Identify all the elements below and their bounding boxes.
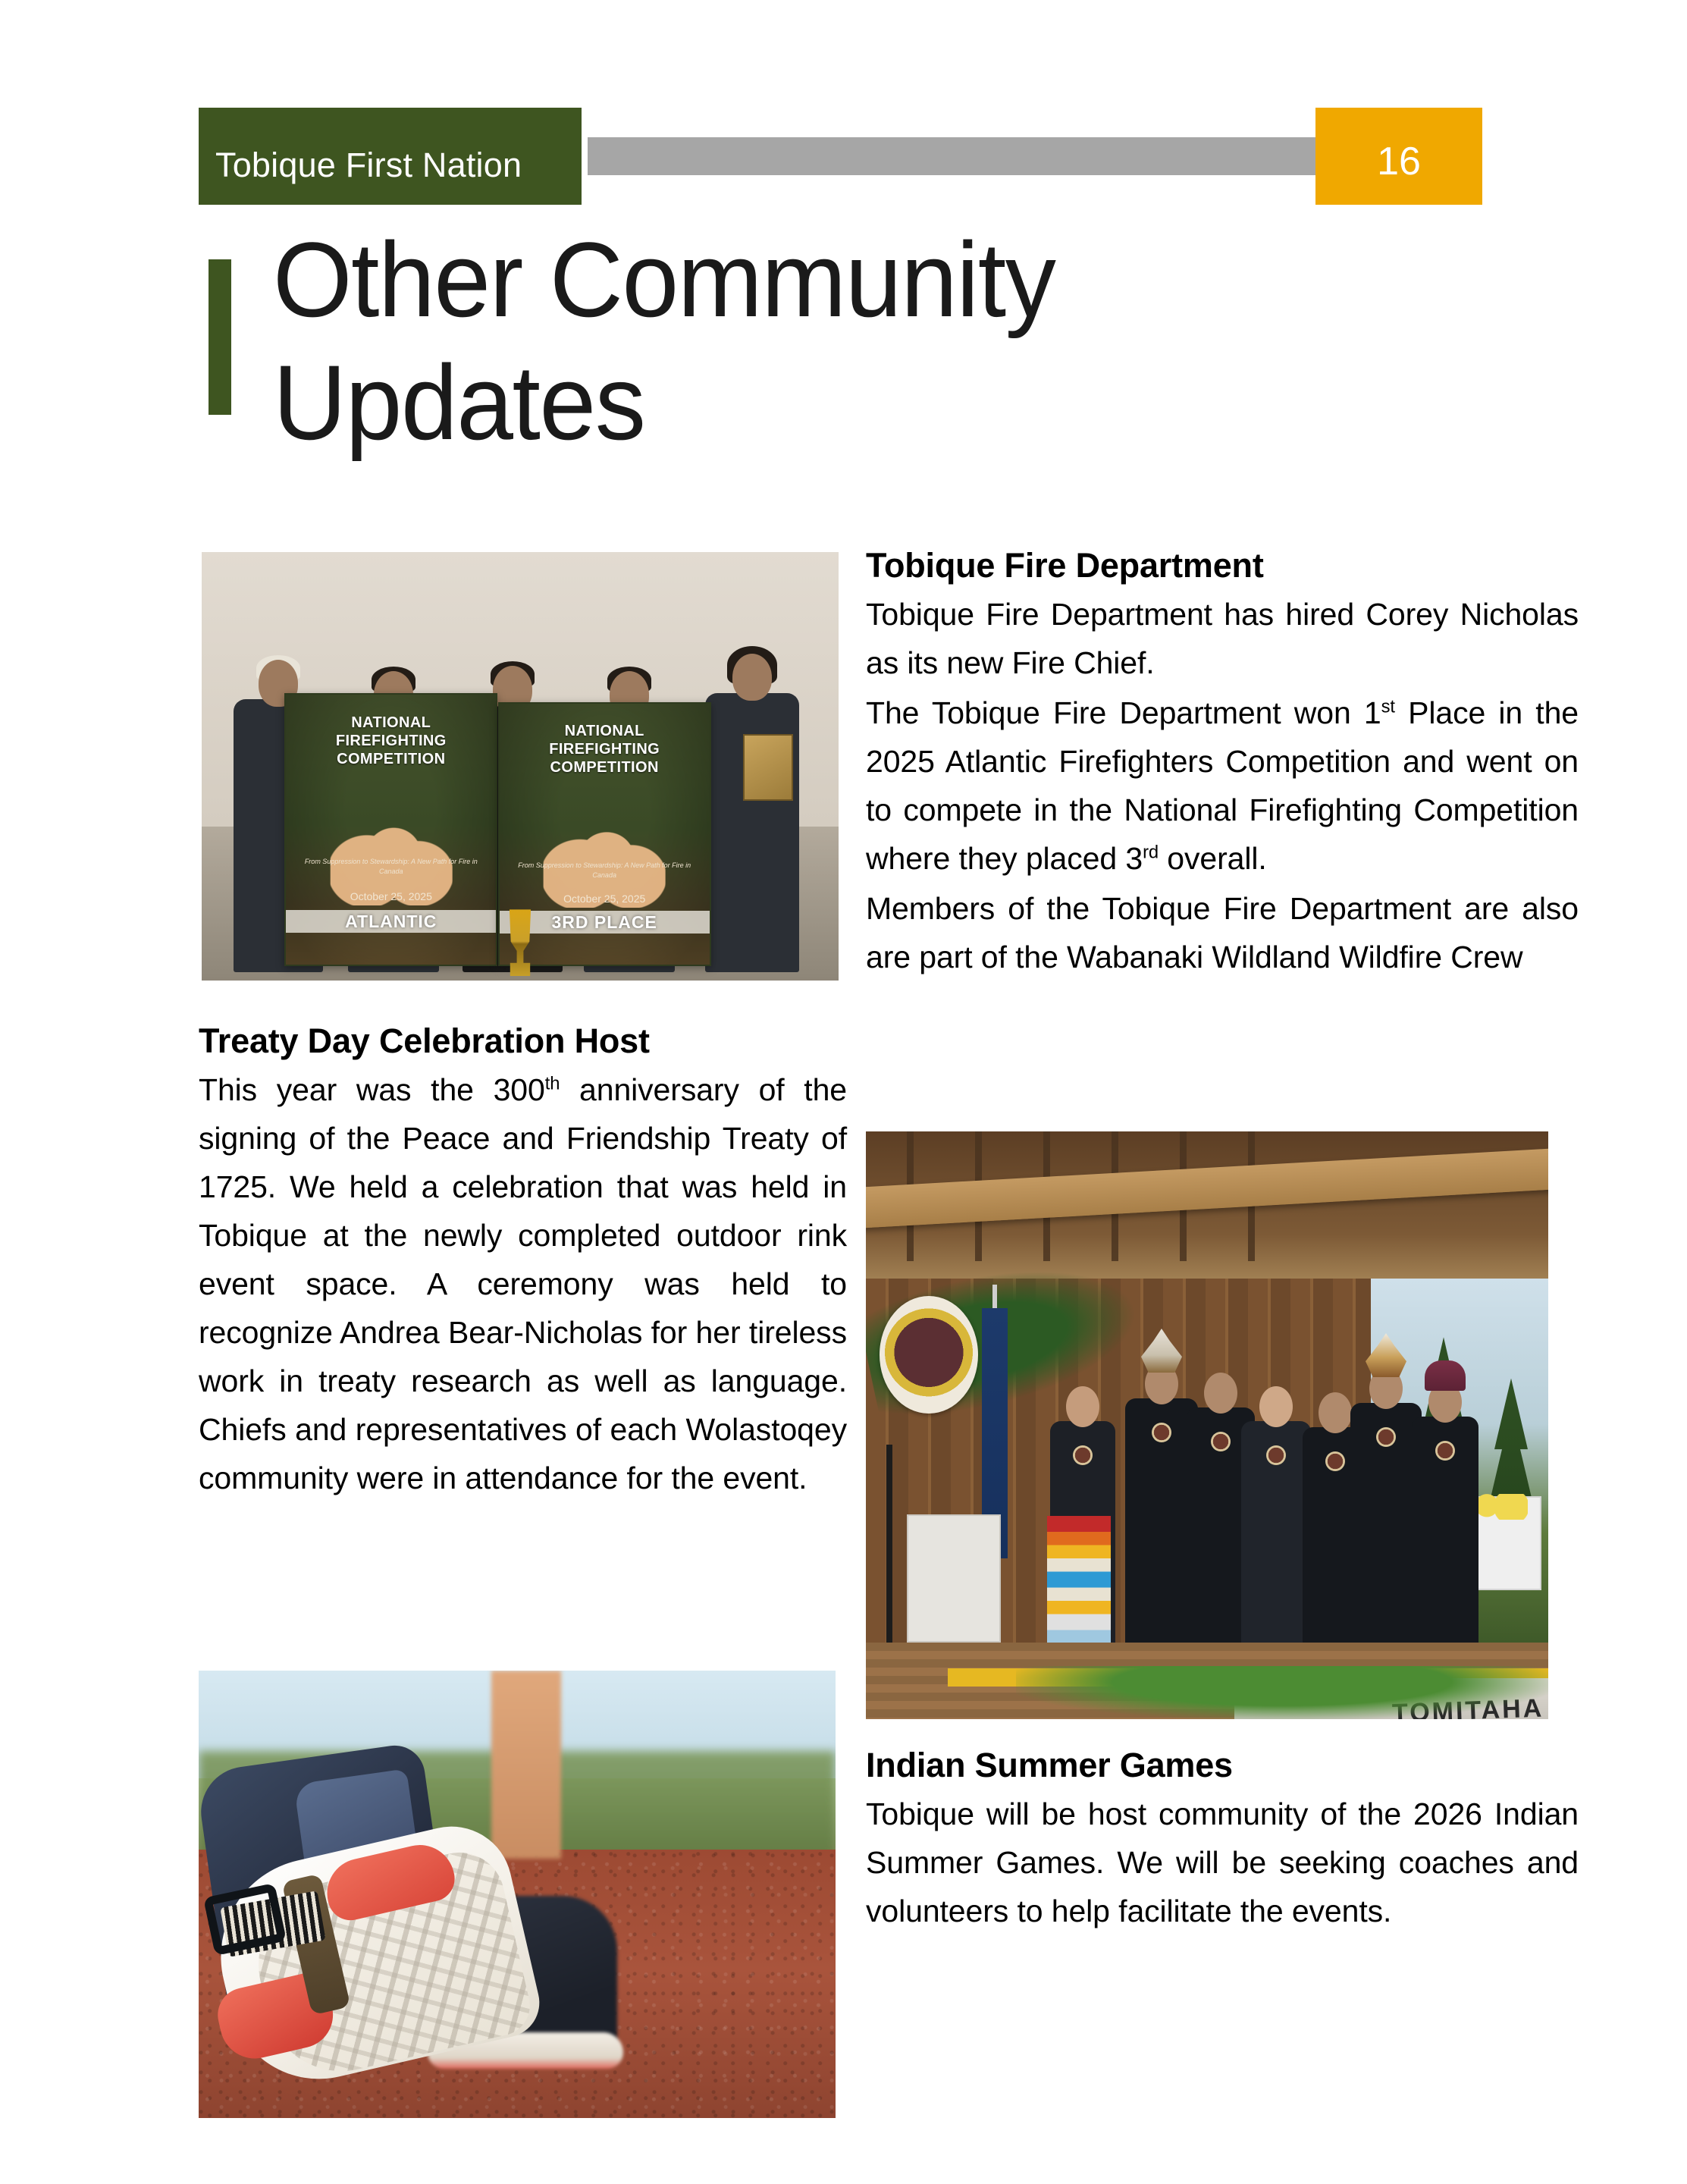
photo-firefighting-team: NATIONAL FIREFIGHTING COMPETITION From S… (202, 552, 839, 981)
fire-department-section: Tobique Fire Department Tobique Fire Dep… (866, 544, 1579, 983)
indian-summer-games-section: Indian Summer Games Tobique will be host… (866, 1744, 1579, 1937)
fire-text-post: overall. (1159, 841, 1267, 876)
banner-tagline: From Suppression to Stewardship: A New P… (299, 857, 484, 877)
banner-firefighter-silhouette (544, 798, 666, 908)
competition-banner-left: NATIONAL FIREFIGHTING COMPETITION From S… (284, 693, 497, 966)
treaty-day-paragraph: This year was the 300th anniversary of t… (199, 1065, 847, 1502)
banner-placement: 3RD PLACE (500, 911, 710, 934)
dignitary-figure (1412, 1417, 1478, 1649)
treaty-medallion (1211, 1432, 1231, 1451)
fire-department-paragraph-3: Members of the Tobique Fire Department a… (866, 884, 1579, 981)
indian-summer-games-paragraph: Tobique will be host community of the 20… (866, 1790, 1579, 1935)
treaty-day-section: Treaty Day Celebration Host This year wa… (199, 1020, 847, 1504)
photo-running-shoe (199, 1671, 836, 2118)
ordinal-suffix-1st: st (1381, 696, 1395, 717)
folding-chair (907, 1514, 1001, 1643)
banner-placement: ATLANTIC (286, 910, 496, 933)
ordinal-suffix-3rd: rd (1143, 842, 1159, 862)
treaty-text-pre: This year was the 300 (199, 1072, 545, 1107)
dignitary-figure (1350, 1403, 1422, 1649)
title-accent-bar (209, 259, 231, 415)
ordinal-suffix-300th: th (545, 1073, 560, 1094)
publication-title: Tobique First Nation (215, 146, 522, 185)
banner-date: October 25, 2025 (299, 890, 484, 903)
treaty-medallion (1325, 1451, 1345, 1471)
treaty-text-post: anniversary of the signing of the Peace … (199, 1072, 847, 1495)
figure-head (732, 654, 772, 701)
treaty-day-heading: Treaty Day Celebration Host (199, 1020, 847, 1062)
runner-front-shoe (212, 1756, 568, 2082)
treaty-medallion (1435, 1441, 1455, 1461)
page-number: 16 (1315, 140, 1482, 184)
fire-department-heading: Tobique Fire Department (866, 544, 1579, 587)
treaty-medallion (1073, 1445, 1093, 1465)
page-number-block: 16 (1315, 108, 1482, 205)
figure-head (1319, 1392, 1352, 1433)
figure-head (1204, 1373, 1237, 1414)
honouree-figure (1241, 1421, 1311, 1649)
newsletter-page: Tobique First Nation 16 Other Community … (0, 0, 1687, 2184)
photo-treaty-ceremony: TOMITAHA (866, 1131, 1548, 1719)
fire-department-paragraph-1: Tobique Fire Department has hired Corey … (866, 590, 1579, 687)
ribbon-skirt (1047, 1516, 1111, 1649)
section-title-group: Other Community Updates (199, 250, 1260, 478)
microphone-stand (886, 1445, 892, 1672)
community-emblem (880, 1296, 978, 1414)
treaty-medallion (1266, 1445, 1286, 1465)
masthead-gray-bar (588, 137, 1361, 175)
fire-department-paragraph-2: The Tobique Fire Department won 1st Plac… (866, 689, 1579, 883)
treaty-medallion (1376, 1427, 1396, 1447)
figure-head (1066, 1386, 1099, 1427)
fire-text-pre: The Tobique Fire Department won 1 (866, 695, 1381, 730)
cedar-bough-decoration (1016, 1666, 1548, 1719)
banner-date: October 25, 2025 (512, 892, 697, 905)
banner-title: NATIONAL FIREFIGHTING COMPETITION (508, 722, 701, 777)
banner-tagline: From Suppression to Stewardship: A New P… (512, 861, 697, 880)
figure-head (1259, 1386, 1293, 1427)
banner-firefighter-silhouette (330, 792, 452, 905)
banner-title: NATIONAL FIREFIGHTING COMPETITION (294, 714, 488, 768)
masthead-publication-block: Tobique First Nation (199, 108, 582, 205)
page-masthead: Tobique First Nation 16 (0, 0, 1687, 212)
page-title: Other Community Updates (273, 218, 1219, 464)
award-plaque (743, 734, 793, 801)
treaty-medallion (1152, 1423, 1171, 1442)
indian-summer-games-heading: Indian Summer Games (866, 1744, 1579, 1787)
beaded-cap (1425, 1360, 1466, 1391)
